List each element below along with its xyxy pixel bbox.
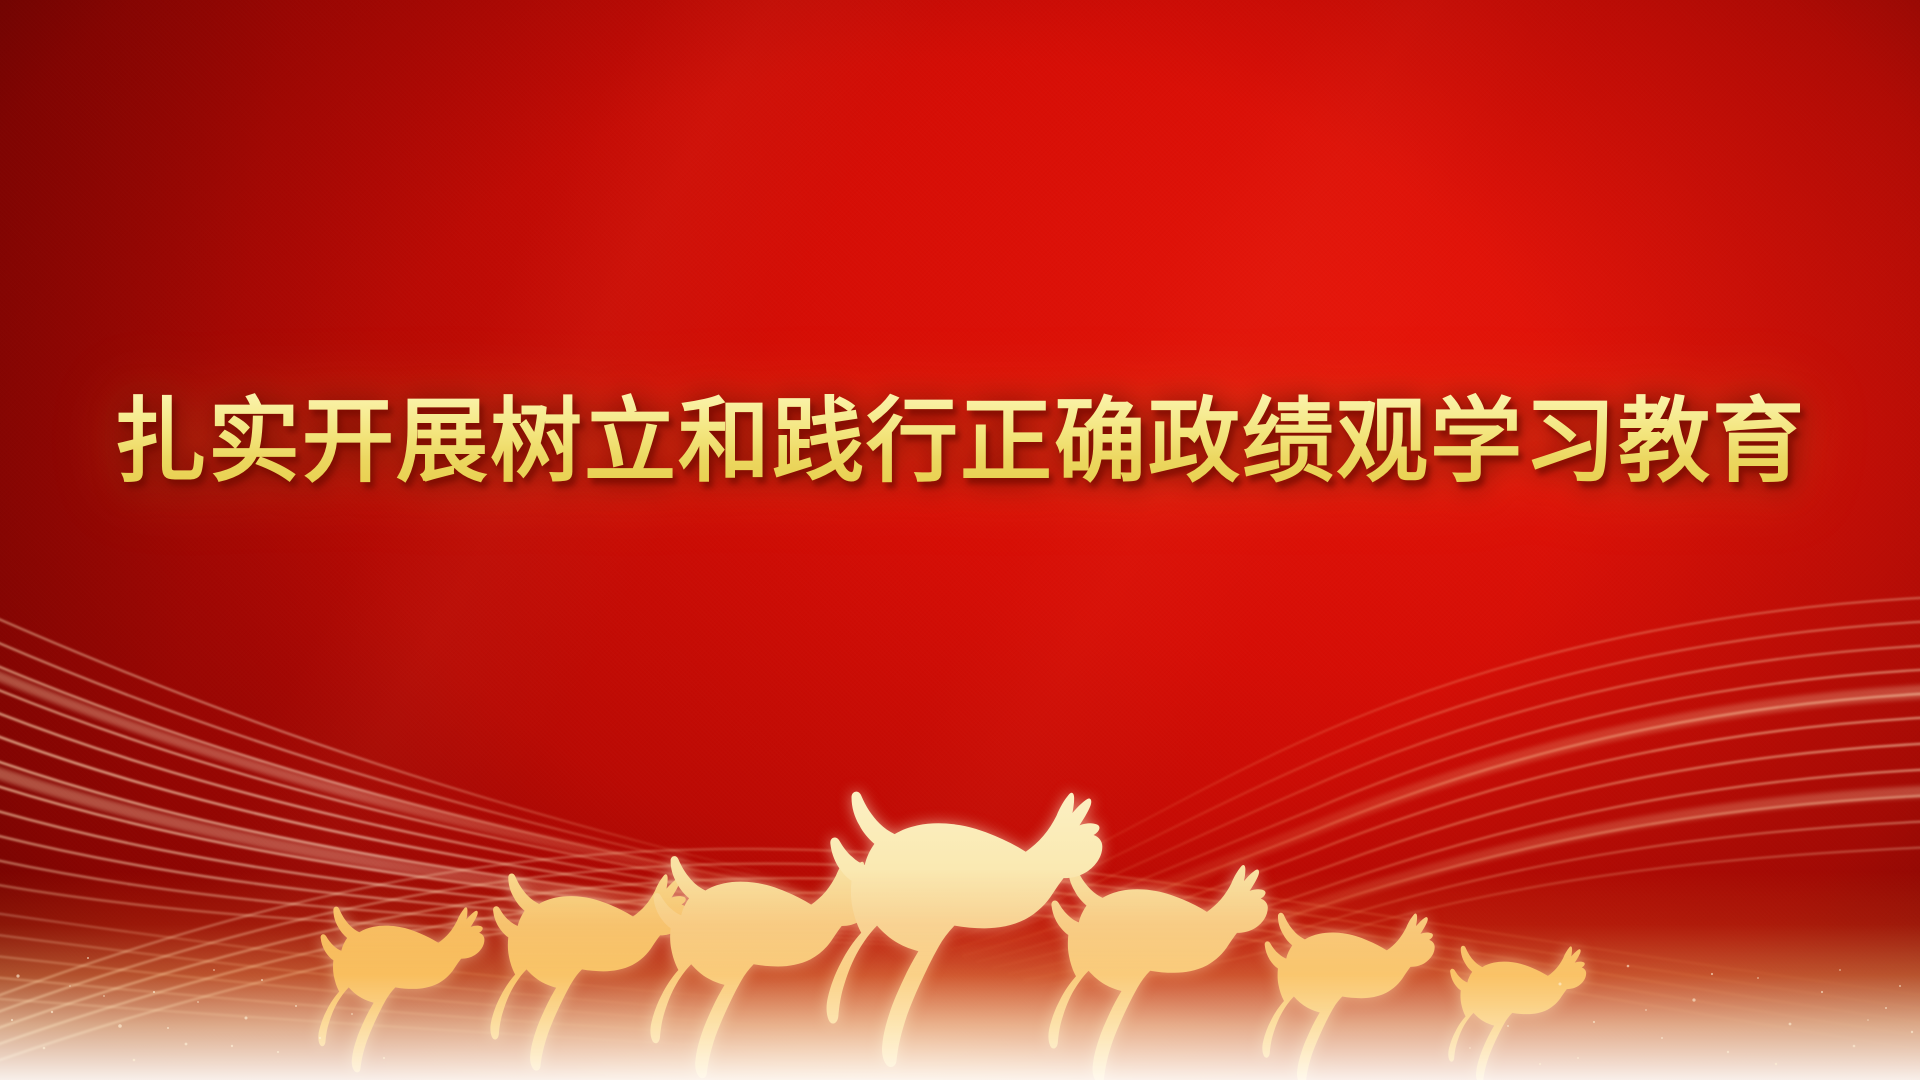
background-vignette — [0, 0, 1920, 1080]
poster-canvas: 扎实开展树立和践行正确政绩观学习教育 — [0, 0, 1920, 1080]
